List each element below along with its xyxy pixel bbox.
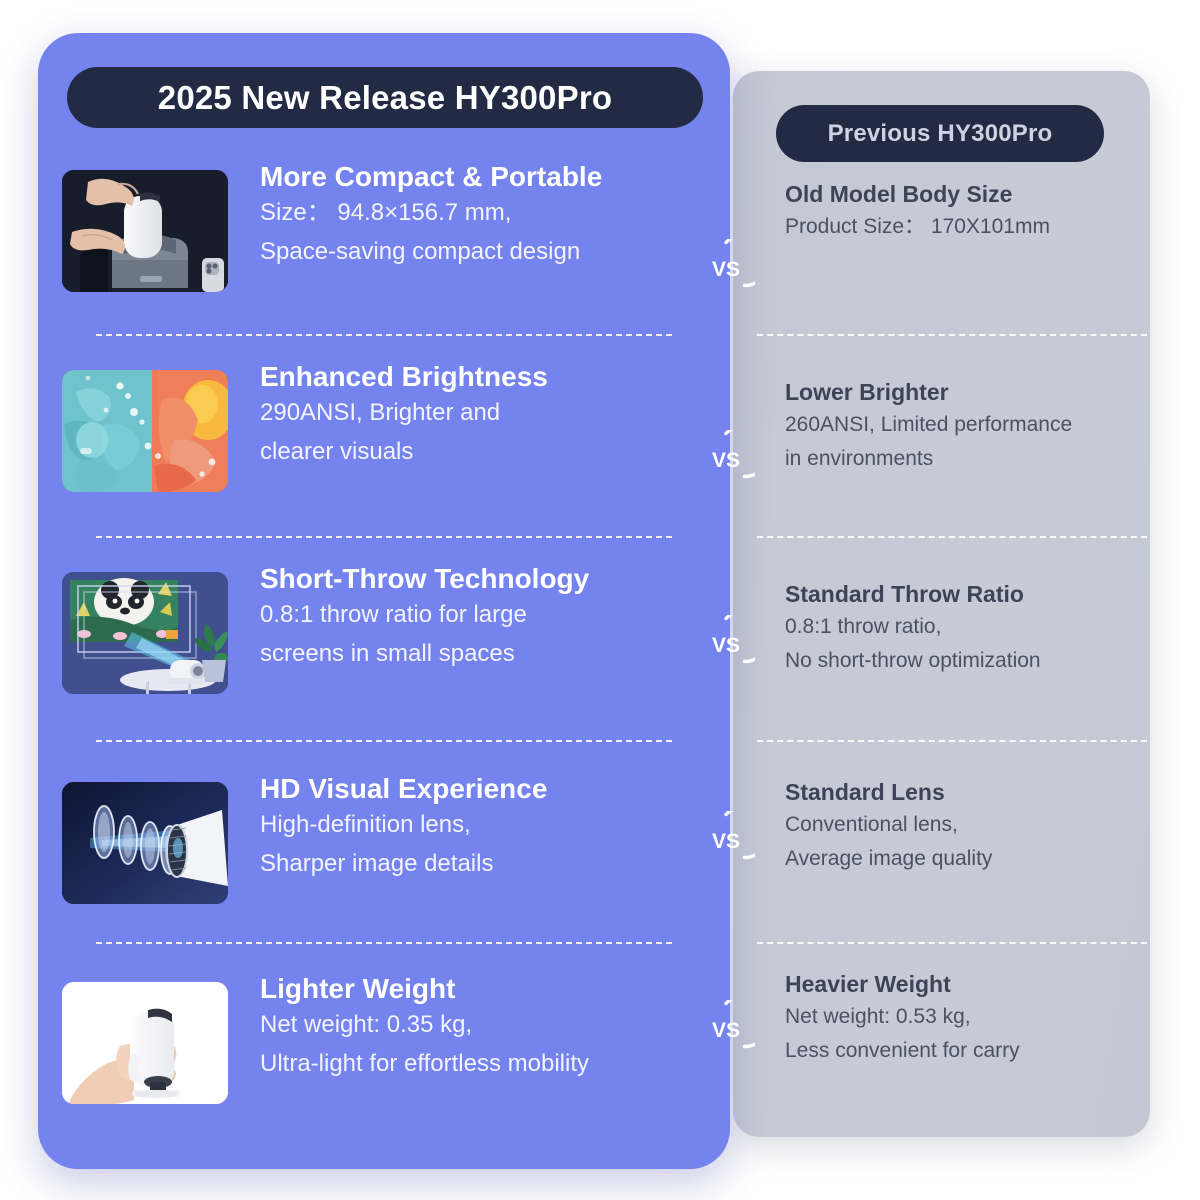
new-feature-line: Net weight: 0.35 kg, [260, 1006, 692, 1045]
vs-badge: VS [697, 811, 755, 869]
old-feature-line: Net weight: 0.53 kg, [785, 1000, 1145, 1034]
old-feature-line: Less convenient for carry [785, 1034, 1145, 1068]
previous-model-title-text: Previous HY300Pro [828, 120, 1053, 148]
new-feature-heading: Short-Throw Technology [260, 562, 692, 596]
lens-exploded-view-photo [62, 782, 228, 904]
new-feature-line: 290ANSI, Brighter and [260, 394, 692, 433]
new-feature-row: HD Visual Experience High-definition len… [62, 782, 692, 932]
projector-in-backpack-photo [62, 170, 228, 292]
section-divider [96, 536, 672, 538]
new-feature-line: 0.8:1 throw ratio for large [260, 596, 692, 635]
new-feature-row: More Compact & Portable Size： 94.8×156.7… [62, 170, 692, 320]
svg-text:VS: VS [712, 634, 740, 657]
new-feature-text: More Compact & Portable Size： 94.8×156.7… [260, 160, 692, 272]
new-feature-line: clearer visuals [260, 433, 692, 472]
new-feature-line: High-definition lens, [260, 806, 692, 845]
vs-badge: VS [697, 1000, 755, 1058]
new-feature-text: HD Visual Experience High-definition len… [260, 772, 692, 884]
old-feature-line: 260ANSI, Limited performance [785, 408, 1145, 442]
old-feature-row: Lower Brighter 260ANSI, Limited performa… [785, 378, 1145, 518]
old-feature-heading: Old Model Body Size [785, 180, 1145, 210]
new-feature-line: Ultra-light for effortless mobility [260, 1045, 692, 1084]
svg-text:VS: VS [712, 830, 740, 853]
section-divider [757, 334, 1147, 336]
svg-text:VS: VS [712, 449, 740, 472]
new-feature-line: Space-saving compact design [260, 233, 692, 272]
vs-badge: VS [697, 430, 755, 488]
vs-badge: VS [697, 239, 755, 297]
vs-badge: VS [697, 615, 755, 673]
new-feature-heading: Lighter Weight [260, 972, 692, 1006]
section-divider [96, 942, 672, 944]
section-divider [757, 740, 1147, 742]
svg-text:VS: VS [712, 258, 740, 281]
colorful-glossy-flowers-photo [62, 370, 228, 492]
previous-model-title-badge: Previous HY300Pro [776, 105, 1104, 162]
new-feature-row: Lighter Weight Net weight: 0.35 kg, Ultr… [62, 982, 692, 1132]
old-feature-row: Standard Throw Ratio 0.8:1 throw ratio, … [785, 580, 1145, 720]
old-feature-line: No short-throw optimization [785, 644, 1145, 678]
section-divider [96, 740, 672, 742]
section-divider [96, 334, 672, 336]
old-feature-line: Product Size： 170X101mm [785, 210, 1145, 244]
section-divider [757, 536, 1147, 538]
new-model-title-text: 2025 New Release HY300Pro [158, 79, 612, 117]
svg-text:VS: VS [712, 1019, 740, 1042]
new-feature-text: Enhanced Brightness 290ANSI, Brighter an… [260, 360, 692, 472]
comparison-infographic: 2025 New Release HY300Pro Previous HY300… [0, 0, 1200, 1200]
new-feature-line: Size： 94.8×156.7 mm, [260, 194, 692, 233]
old-feature-heading: Lower Brighter [785, 378, 1145, 408]
old-feature-heading: Heavier Weight [785, 970, 1145, 1000]
hand-holding-projector-photo [62, 982, 228, 1104]
new-feature-heading: More Compact & Portable [260, 160, 692, 194]
new-feature-heading: HD Visual Experience [260, 772, 692, 806]
old-feature-heading: Standard Throw Ratio [785, 580, 1145, 610]
old-feature-line: 0.8:1 throw ratio, [785, 610, 1145, 644]
new-feature-row: Enhanced Brightness 290ANSI, Brighter an… [62, 370, 692, 520]
old-feature-row: Heavier Weight Net weight: 0.53 kg, Less… [785, 970, 1145, 1110]
new-feature-text: Lighter Weight Net weight: 0.35 kg, Ultr… [260, 972, 692, 1084]
new-feature-line: screens in small spaces [260, 635, 692, 674]
old-feature-line: Average image quality [785, 842, 1145, 876]
old-feature-row: Standard Lens Conventional lens, Average… [785, 778, 1145, 918]
old-feature-row: Old Model Body Size Product Size： 170X10… [785, 180, 1145, 320]
old-feature-line: Conventional lens, [785, 808, 1145, 842]
new-model-title-badge: 2025 New Release HY300Pro [67, 67, 703, 128]
new-feature-heading: Enhanced Brightness [260, 360, 692, 394]
new-feature-line: Sharper image details [260, 845, 692, 884]
projector-panda-projection-photo [62, 572, 228, 694]
new-feature-text: Short-Throw Technology 0.8:1 throw ratio… [260, 562, 692, 674]
old-feature-line: in environments [785, 442, 1145, 476]
old-feature-heading: Standard Lens [785, 778, 1145, 808]
new-feature-row: Short-Throw Technology 0.8:1 throw ratio… [62, 572, 692, 722]
section-divider [757, 942, 1147, 944]
